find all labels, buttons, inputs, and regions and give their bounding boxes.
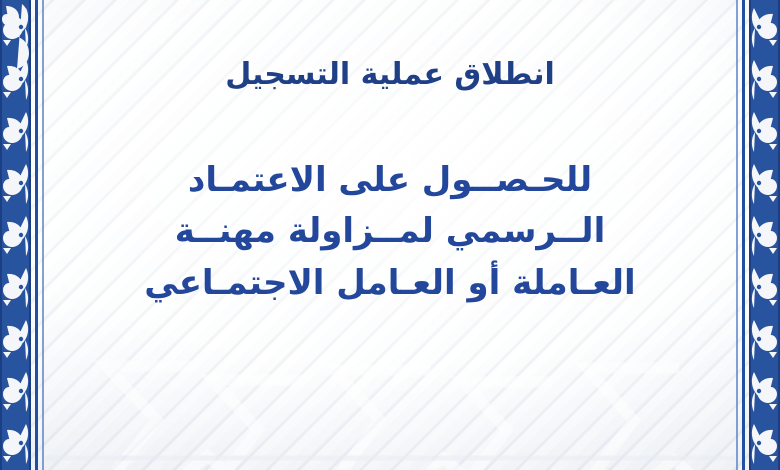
body-line-2: الــرسمي لمــزاولة مهنــة xyxy=(144,206,635,258)
poster-body: للحـصــول على الاعتمـاد الــرسمي لمــزاو… xyxy=(144,155,635,310)
border-rule-left-outer xyxy=(42,0,44,470)
body-line-1: للحـصــول على الاعتمـاد xyxy=(144,155,635,207)
poster-content: انطلاق عملية التسجيل للحـصــول على الاعت… xyxy=(56,0,724,470)
border-rule-right-outer xyxy=(736,0,738,470)
body-line-3: العـاملة أو العـامل الاجتمـاعي xyxy=(144,258,635,310)
arabesque-border-left xyxy=(0,0,46,470)
border-rule-left-inner xyxy=(35,0,38,470)
page-title: انطلاق عملية التسجيل xyxy=(225,58,555,93)
arabesque-border-right xyxy=(734,0,780,470)
announcement-poster: انطلاق عملية التسجيل للحـصــول على الاعت… xyxy=(0,0,780,470)
border-rule-right-inner xyxy=(742,0,745,470)
